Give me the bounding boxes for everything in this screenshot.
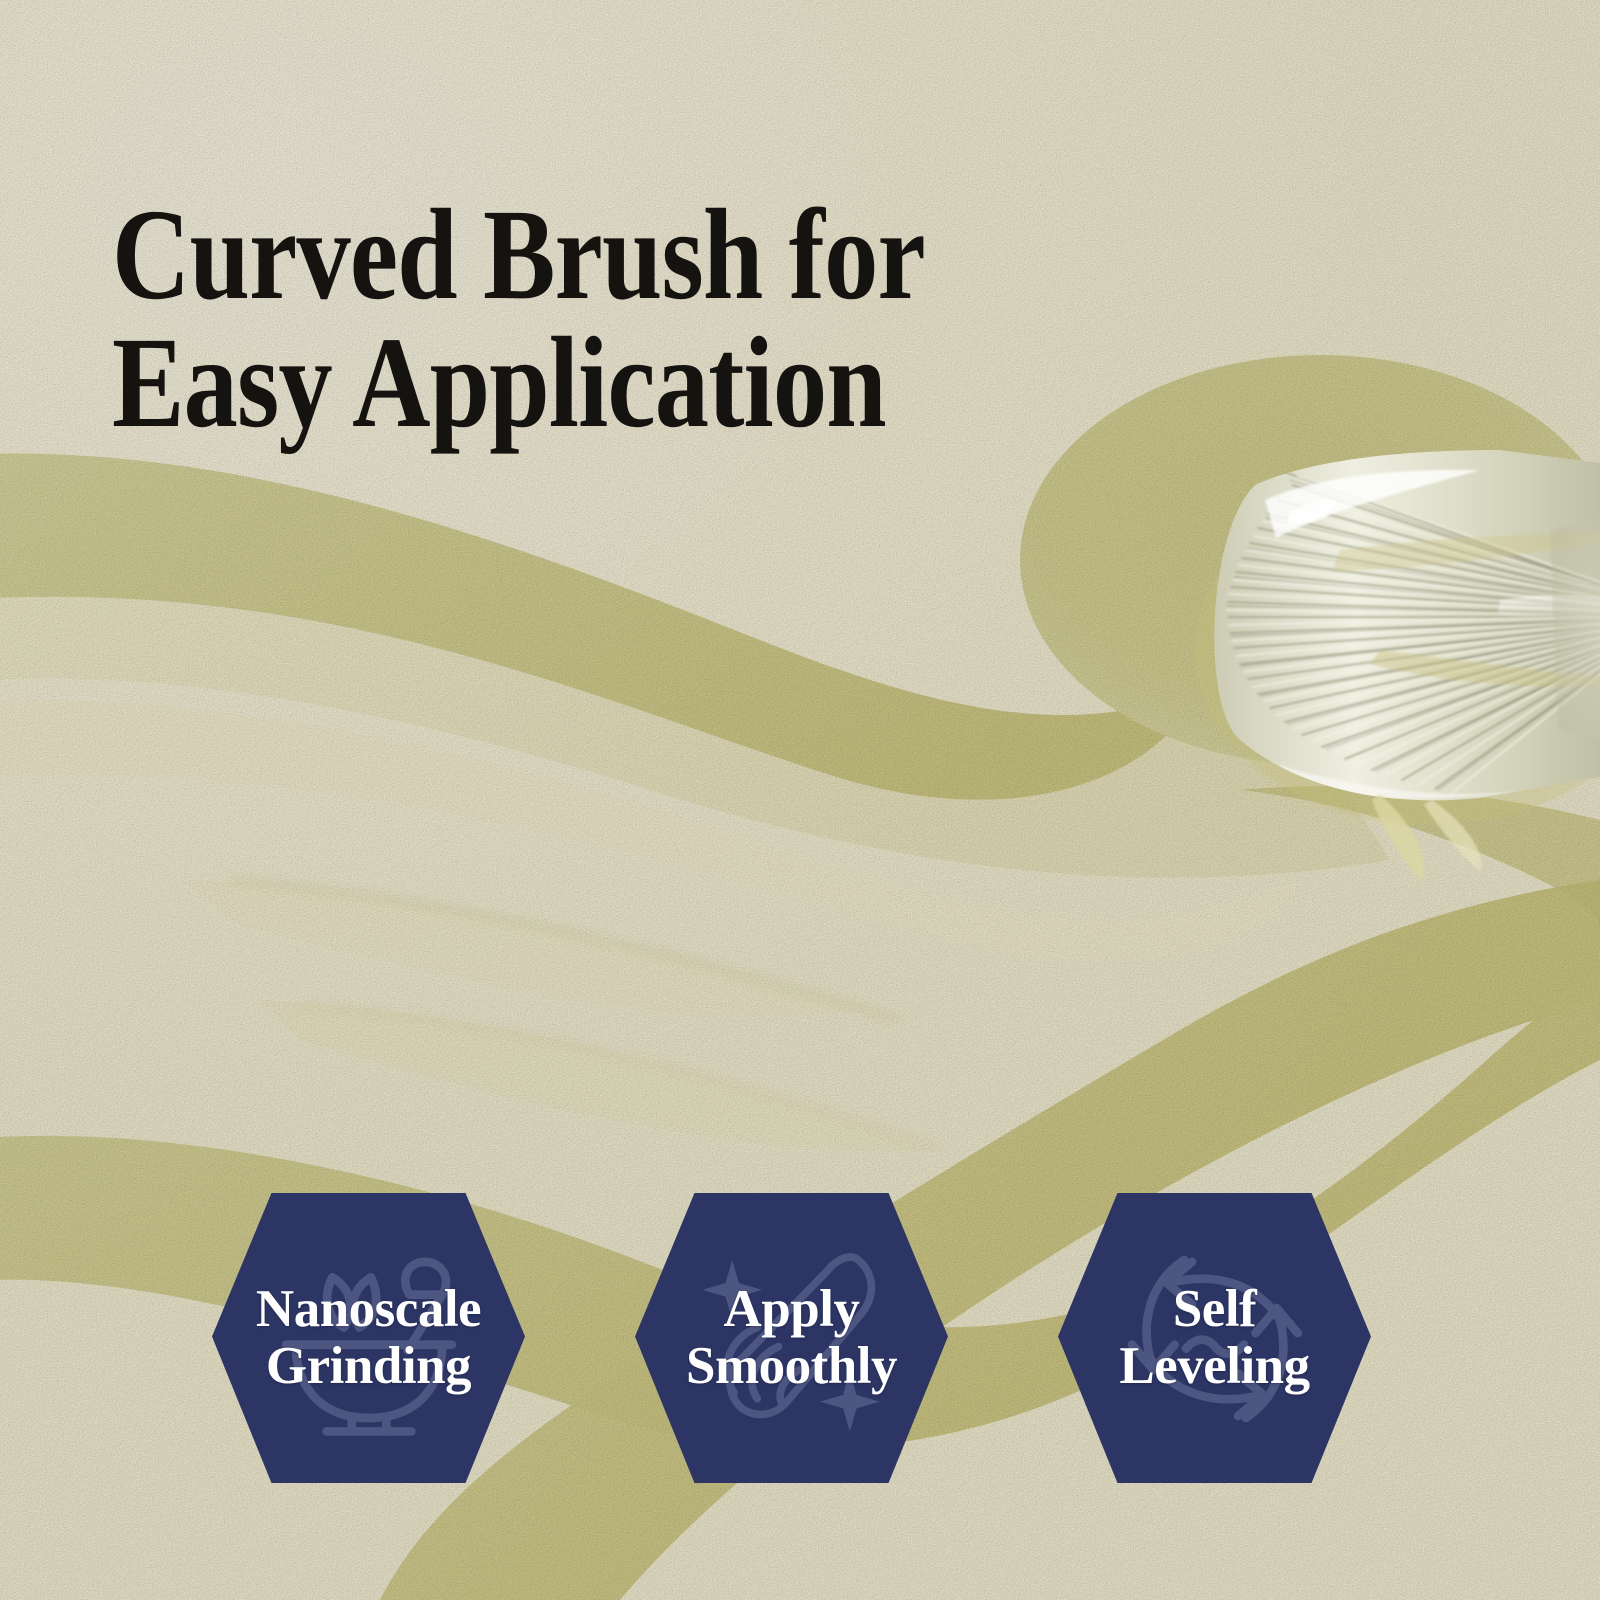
- badge-label: Nanoscale Grinding: [212, 1281, 525, 1395]
- badge-label: Self Leveling: [1058, 1281, 1371, 1395]
- feature-badge-apply-smoothly[interactable]: Apply Smoothly: [635, 1193, 948, 1483]
- brush-bristles-icon: [1080, 300, 1600, 920]
- headline-line-1: Curved Brush for: [112, 191, 997, 319]
- feature-badge-row: Nanoscale Grinding: [212, 1193, 1392, 1483]
- feature-badge-self-leveling[interactable]: Self Leveling: [1058, 1193, 1371, 1483]
- feature-badge-nanoscale-grinding[interactable]: Nanoscale Grinding: [212, 1193, 525, 1483]
- page-title: Curved Brush for Easy Application: [112, 191, 997, 447]
- product-feature-banner: Curved Brush for Easy Application: [0, 0, 1600, 1600]
- badge-label: Apply Smoothly: [635, 1281, 948, 1395]
- headline-line-2: Easy Application: [112, 319, 997, 447]
